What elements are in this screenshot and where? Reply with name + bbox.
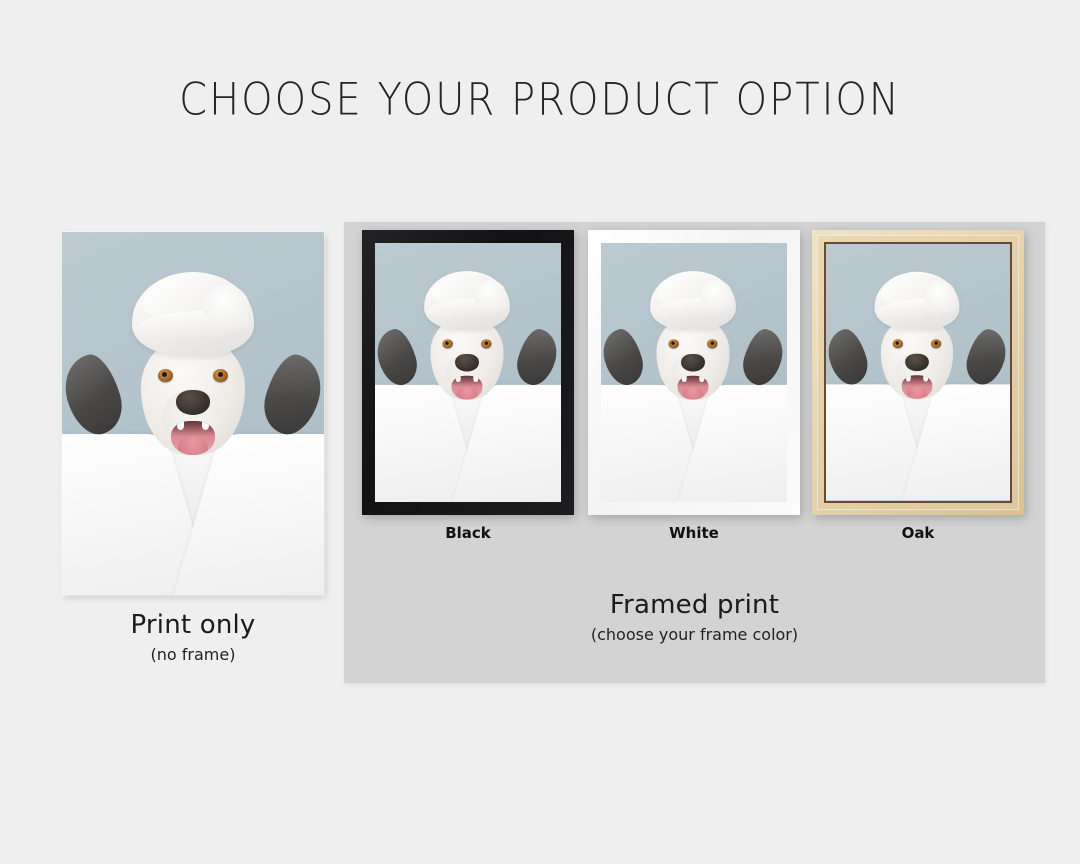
dog-bathrobe <box>375 385 561 502</box>
dog-eye-right <box>707 339 718 348</box>
dog-tooth <box>682 375 687 381</box>
dog-mouth <box>678 375 709 399</box>
dog-ear-left <box>375 326 422 390</box>
dog-tongue <box>178 437 208 455</box>
artwork-scale-wrapper <box>826 244 1008 496</box>
dog-portrait-artwork <box>62 232 324 595</box>
frame-option-white[interactable]: White <box>588 230 800 542</box>
dog-ear-right <box>961 326 1010 389</box>
dog-mouth <box>452 375 483 399</box>
dog-mouth <box>171 421 215 455</box>
dog-muzzle <box>445 353 489 392</box>
dog-eye-right <box>481 339 492 348</box>
print-only-labels: Print only (no frame) <box>62 610 324 664</box>
dog-eye-left <box>668 339 679 348</box>
dog-portrait-artwork <box>826 244 1010 501</box>
dog-tooth <box>177 421 184 430</box>
oak-frame-artwork <box>826 244 1010 501</box>
dog-tooth <box>699 375 704 381</box>
black-frame-artwork <box>375 243 561 502</box>
dog-eye-right <box>931 339 941 348</box>
artwork-scale-wrapper <box>601 243 785 498</box>
frame-color-options: Black <box>344 222 1045 542</box>
dog-portrait-artwork <box>375 243 561 502</box>
dog-tongue <box>907 386 928 399</box>
artwork-scale-wrapper <box>375 243 559 498</box>
dog-tooth <box>923 375 928 381</box>
robe-lapel-right <box>453 385 561 502</box>
frame-label-white: White <box>588 524 800 542</box>
dog-tooth <box>202 421 209 430</box>
dog-nose <box>905 354 929 371</box>
dog-muzzle <box>671 353 715 392</box>
dog-nose <box>455 354 479 372</box>
dog-ear-left <box>601 326 648 390</box>
print-only-title: Print only <box>62 610 324 640</box>
dog-mouth <box>902 375 933 399</box>
dog-nose <box>681 354 705 372</box>
robe-lapel-right <box>679 385 787 502</box>
dog-ear-left <box>62 350 129 441</box>
frame-label-oak: Oak <box>812 524 1024 542</box>
towel-turban <box>132 272 254 356</box>
dog-eye-left <box>892 339 902 348</box>
frame-label-black: Black <box>362 524 574 542</box>
dog-tooth <box>456 375 461 381</box>
dog-tooth <box>473 375 478 381</box>
framed-print-subtitle: (choose your frame color) <box>344 625 1045 644</box>
print-only-subtitle: (no frame) <box>62 645 324 664</box>
white-frame-artwork <box>601 243 787 502</box>
dog-bathrobe <box>826 384 1010 500</box>
towel-turban <box>650 271 736 330</box>
product-option-framed-print[interactable]: Black <box>344 222 1045 683</box>
dog-tongue <box>456 387 477 400</box>
dog-eye-left <box>158 369 173 382</box>
black-frame[interactable] <box>362 230 574 515</box>
framed-print-labels: Framed print (choose your frame color) <box>344 590 1045 644</box>
dog-nose <box>176 390 210 415</box>
product-option-print-only[interactable]: Print only (no frame) <box>62 232 324 595</box>
robe-lapel-right <box>172 434 324 595</box>
frame-option-black[interactable]: Black <box>362 230 574 542</box>
dog-ear-left <box>826 326 873 389</box>
towel-turban <box>424 271 510 330</box>
dog-ear-right <box>512 326 561 390</box>
dog-tooth <box>906 375 911 381</box>
white-frame[interactable] <box>588 230 800 515</box>
dog-muzzle <box>895 353 938 392</box>
dog-ear-right <box>738 326 787 390</box>
artwork-scale-wrapper <box>62 232 324 595</box>
dog-tongue <box>682 387 703 400</box>
dog-bathrobe <box>601 385 787 502</box>
framed-print-title: Framed print <box>344 590 1045 620</box>
dog-ear-right <box>257 350 324 441</box>
dog-eye-right <box>213 369 228 382</box>
frame-option-oak[interactable]: Oak <box>812 230 1024 542</box>
print-only-artwork[interactable] <box>62 232 324 595</box>
dog-muzzle <box>162 389 224 445</box>
dog-bathrobe <box>62 434 324 595</box>
towel-turban <box>875 272 960 330</box>
dog-portrait-artwork <box>601 243 787 502</box>
page-title: CHOOSE YOUR PRODUCT OPTION <box>0 74 1080 126</box>
dog-eye-left <box>442 339 453 348</box>
robe-lapel-right <box>903 384 1010 500</box>
oak-frame[interactable] <box>812 230 1024 515</box>
